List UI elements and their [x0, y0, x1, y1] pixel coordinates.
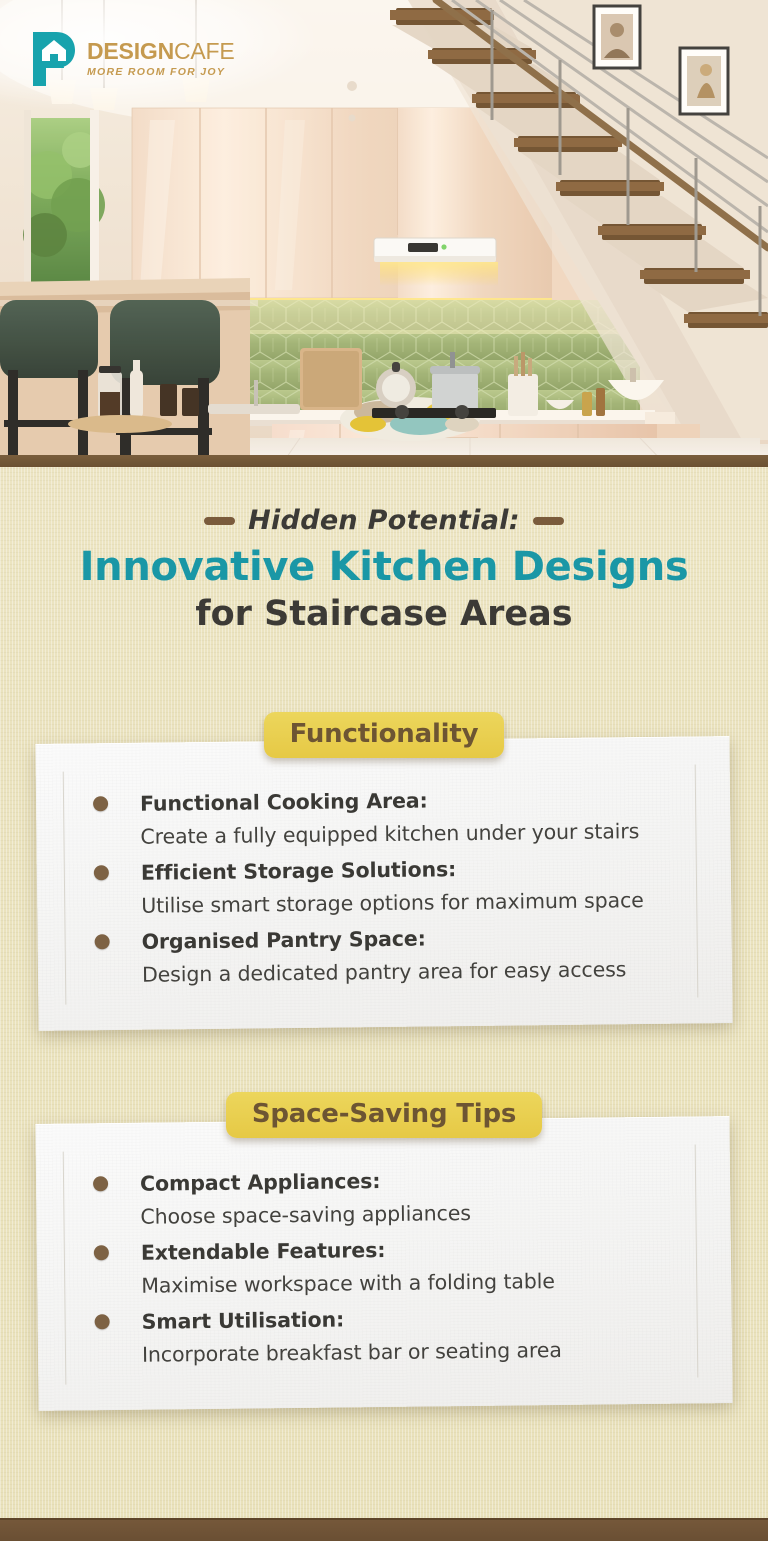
badge-row: Space-Saving Tips — [0, 1092, 768, 1138]
kicker-dash-left-icon — [204, 517, 235, 525]
hero-bottom-strip — [0, 455, 768, 467]
footer-bar — [0, 1518, 768, 1541]
brand-name-bold: DESIGN — [87, 38, 174, 64]
item-description: Create a fully equipped kitchen under yo… — [140, 814, 700, 854]
list-item: Smart Utilisation: Incorporate breakfast… — [141, 1300, 702, 1371]
item-description: Choose space-saving appliances — [140, 1194, 700, 1234]
card-functionality: Functional Cooking Area: Create a fully … — [35, 736, 732, 1031]
item-description: Maximise workspace with a folding table — [141, 1263, 701, 1303]
list-item: Functional Cooking Area: Create a fully … — [140, 782, 701, 853]
section-badge-space-saving-tips: Space-Saving Tips — [226, 1092, 542, 1138]
list-item: Efficient Storage Solutions: Utilise sma… — [141, 851, 702, 922]
brand-name-light: CAFE — [174, 38, 235, 64]
bullet-dot-icon — [95, 934, 110, 949]
title-block: Hidden Potential: Innovative Kitchen Des… — [0, 505, 768, 634]
list-item: Compact Appliances: Choose space-saving … — [140, 1162, 701, 1233]
badge-row: Functionality — [0, 712, 768, 758]
card-space-saving-tips: Compact Appliances: Choose space-saving … — [35, 1116, 732, 1411]
kicker-text: Hidden Potential: — [248, 505, 520, 536]
brand-name: DESIGNCAFE — [87, 40, 235, 63]
section-functionality: Functionality Functional Cooking Area: C… — [0, 712, 768, 1027]
bullet-list: Compact Appliances: Choose space-saving … — [66, 1162, 702, 1372]
item-description: Incorporate breakfast bar or seating are… — [142, 1332, 702, 1372]
hero-image: DESIGNCAFE MORE ROOM FOR JOY — [0, 0, 768, 467]
title-kicker: Hidden Potential: — [0, 505, 768, 536]
bullet-dot-icon — [93, 796, 108, 811]
bullet-dot-icon — [93, 1176, 108, 1191]
item-description: Design a dedicated pantry area for easy … — [142, 952, 702, 992]
bullet-list: Functional Cooking Area: Create a fully … — [66, 782, 702, 992]
designcafe-house-logo-icon — [30, 30, 78, 88]
kicker-dash-right-icon — [533, 517, 564, 525]
item-description: Utilise smart storage options for maximu… — [141, 883, 701, 923]
brand-tagline: MORE ROOM FOR JOY — [87, 67, 235, 78]
bullet-dot-icon — [94, 1245, 109, 1260]
page-title-line2: for Staircase Areas — [0, 594, 768, 634]
section-space-saving-tips: Space-Saving Tips Compact Appliances: Ch… — [0, 1092, 768, 1407]
bullet-dot-icon — [94, 865, 109, 880]
infographic-page: DESIGNCAFE MORE ROOM FOR JOY Hidden Pote… — [0, 0, 768, 1541]
list-item: Organised Pantry Space: Design a dedicat… — [141, 920, 702, 991]
page-title-line1: Innovative Kitchen Designs — [0, 544, 768, 590]
bullet-dot-icon — [95, 1314, 110, 1329]
list-item: Extendable Features: Maximise workspace … — [141, 1231, 702, 1302]
designcafe-logo[interactable]: DESIGNCAFE MORE ROOM FOR JOY — [30, 30, 235, 88]
section-badge-functionality: Functionality — [264, 712, 505, 758]
logo-wordmark: DESIGNCAFE MORE ROOM FOR JOY — [87, 40, 235, 78]
